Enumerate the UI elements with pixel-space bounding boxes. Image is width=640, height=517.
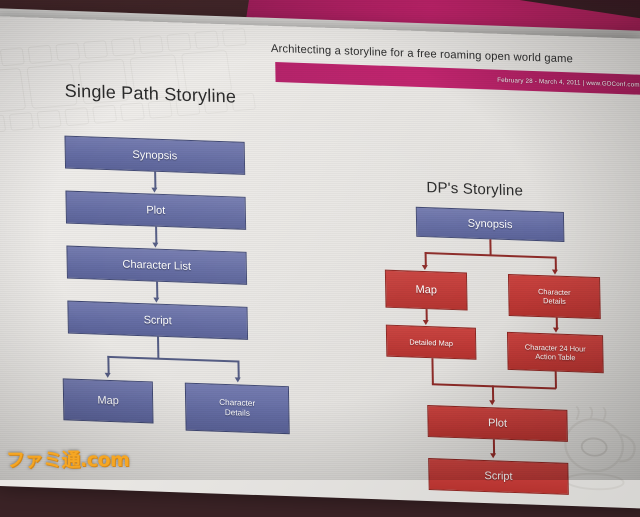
node-label: Plot	[488, 417, 507, 430]
connector-dp-detailed-map-merge	[431, 358, 433, 384]
arrowhead-dp-plot	[489, 400, 495, 405]
node-label-line2: Details	[225, 408, 250, 419]
node-label: Map	[97, 395, 119, 408]
node-label-line2: Action Table	[535, 352, 575, 362]
node-dp-detailed-map: Detailed Map	[386, 325, 477, 360]
connector-dp-plot-script	[493, 439, 495, 454]
connector-dp-map-drop	[425, 252, 427, 266]
connector-script-split-stem	[157, 337, 159, 359]
connector-plot-character-list	[155, 227, 157, 244]
connector-dp-action-table-merge	[555, 372, 557, 389]
node-label: Map	[415, 284, 437, 297]
node-label-line2: Details	[543, 296, 566, 306]
slide-surface: February 28 - March 4, 2011 | www.GDConf…	[0, 16, 640, 509]
projection-screen: February 28 - March 4, 2011 | www.GDConf…	[0, 0, 640, 517]
connector-script-map-drop	[107, 356, 109, 374]
node-dp-character-details: Character Details	[508, 274, 601, 319]
node-single-path-script: Script	[67, 301, 248, 340]
node-dp-character-24-hour-action-table: Character 24 Hour Action Table	[507, 332, 604, 373]
connector-script-split-bar	[107, 356, 238, 362]
arrowhead-dp-script	[490, 453, 496, 458]
connector-dp-synopsis-stem	[489, 239, 491, 255]
arrowhead-map	[105, 373, 111, 378]
arrowhead-dp-action-table	[553, 327, 559, 332]
connector-synopsis-plot	[154, 172, 156, 189]
connector-script-character-details-drop	[237, 360, 239, 378]
node-single-path-plot: Plot	[65, 191, 246, 230]
connector-dp-merge-plot-stem	[492, 385, 494, 401]
arrowhead-dp-detailed-map	[423, 320, 429, 325]
node-dp-synopsis: Synopsis	[416, 207, 565, 242]
node-label: Detailed Map	[409, 337, 453, 348]
node-dp-script: Script	[428, 458, 569, 495]
node-label: Character List	[122, 258, 191, 272]
arrowhead-character-details	[235, 377, 241, 382]
node-single-path-map: Map	[63, 378, 154, 423]
arrowhead-dp-map	[422, 265, 428, 270]
arrowhead-dp-character-details	[552, 269, 558, 274]
node-label: Script	[484, 470, 512, 483]
arrowhead-script	[153, 298, 159, 303]
node-single-path-character-list: Character List	[66, 246, 247, 285]
node-label: Script	[144, 314, 172, 327]
node-single-path-synopsis: Synopsis	[64, 136, 245, 175]
node-label: Synopsis	[132, 148, 177, 162]
node-label: Synopsis	[468, 218, 513, 232]
arrowhead-plot	[151, 188, 157, 193]
diagram-heading-dp-storyline: DP's Storyline	[426, 179, 523, 199]
connector-dp-character-details-drop	[555, 257, 557, 271]
famitsu-watermark: ファミ通.com	[6, 445, 129, 472]
connector-dp-merge-bar	[432, 383, 556, 389]
node-single-path-character-details: Character Details	[185, 383, 290, 435]
connector-character-list-script	[156, 282, 158, 299]
node-dp-plot: Plot	[427, 405, 568, 442]
arrowhead-character-list	[152, 243, 158, 248]
node-label: Plot	[146, 204, 165, 217]
node-dp-map: Map	[385, 270, 468, 311]
